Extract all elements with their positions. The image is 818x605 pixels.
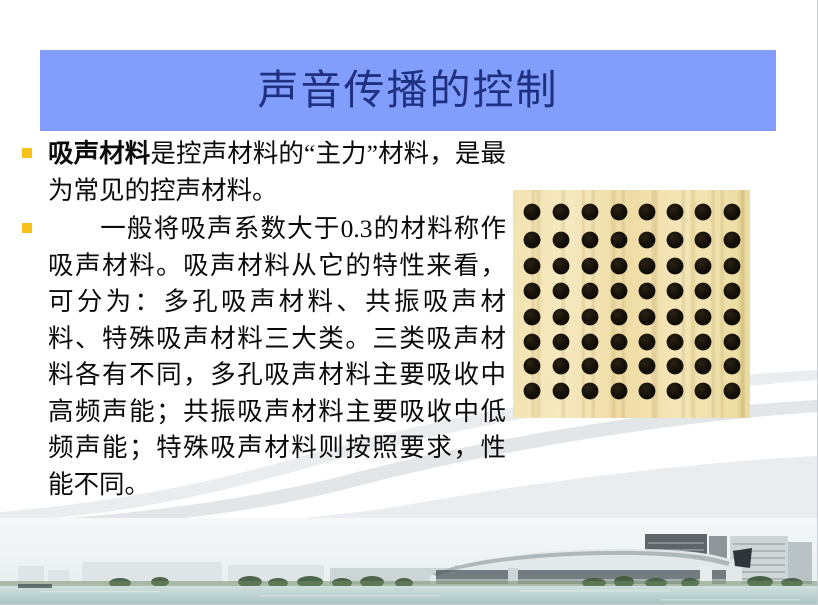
slide-title-banner: 声音传播的控制: [40, 50, 776, 131]
bullet-body-text: 一般将吸声系数大于0.3的材料称作吸声材料。吸声材料从它的特性来看，可分为：多孔…: [48, 214, 506, 499]
bullet-square-icon: [22, 148, 32, 158]
cityscape-illustration: [0, 518, 818, 605]
bullet-square-icon: [22, 223, 32, 233]
list-item: 吸声材料是控声材料的“主力”材料，是最为常见的控声材料。: [14, 136, 506, 209]
slide-body-content: 吸声材料是控声材料的“主力”材料，是最为常见的控声材料。 一般将吸声系数大于0.…: [14, 136, 506, 505]
bullet-bold-lead: 吸声材料: [48, 139, 150, 168]
list-item: 一般将吸声系数大于0.3的材料称作吸声材料。吸声材料从它的特性来看，可分为：多孔…: [14, 211, 506, 503]
page-title: 声音传播的控制: [258, 69, 559, 112]
presentation-slide: 声音传播的控制 吸声材料是控声材料的“主力”材料，是最为常见的控声材料。 一般将…: [0, 0, 818, 605]
waterfront-photo-band: [0, 518, 818, 605]
perforated-wood-panel-image: [513, 190, 750, 418]
bullet-paragraph: 吸声材料是控声材料的“主力”材料，是最为常见的控声材料。: [48, 136, 506, 209]
panel-hole-grid: [513, 190, 750, 418]
bullet-paragraph: 一般将吸声系数大于0.3的材料称作吸声材料。吸声材料从它的特性来看，可分为：多孔…: [48, 211, 506, 503]
